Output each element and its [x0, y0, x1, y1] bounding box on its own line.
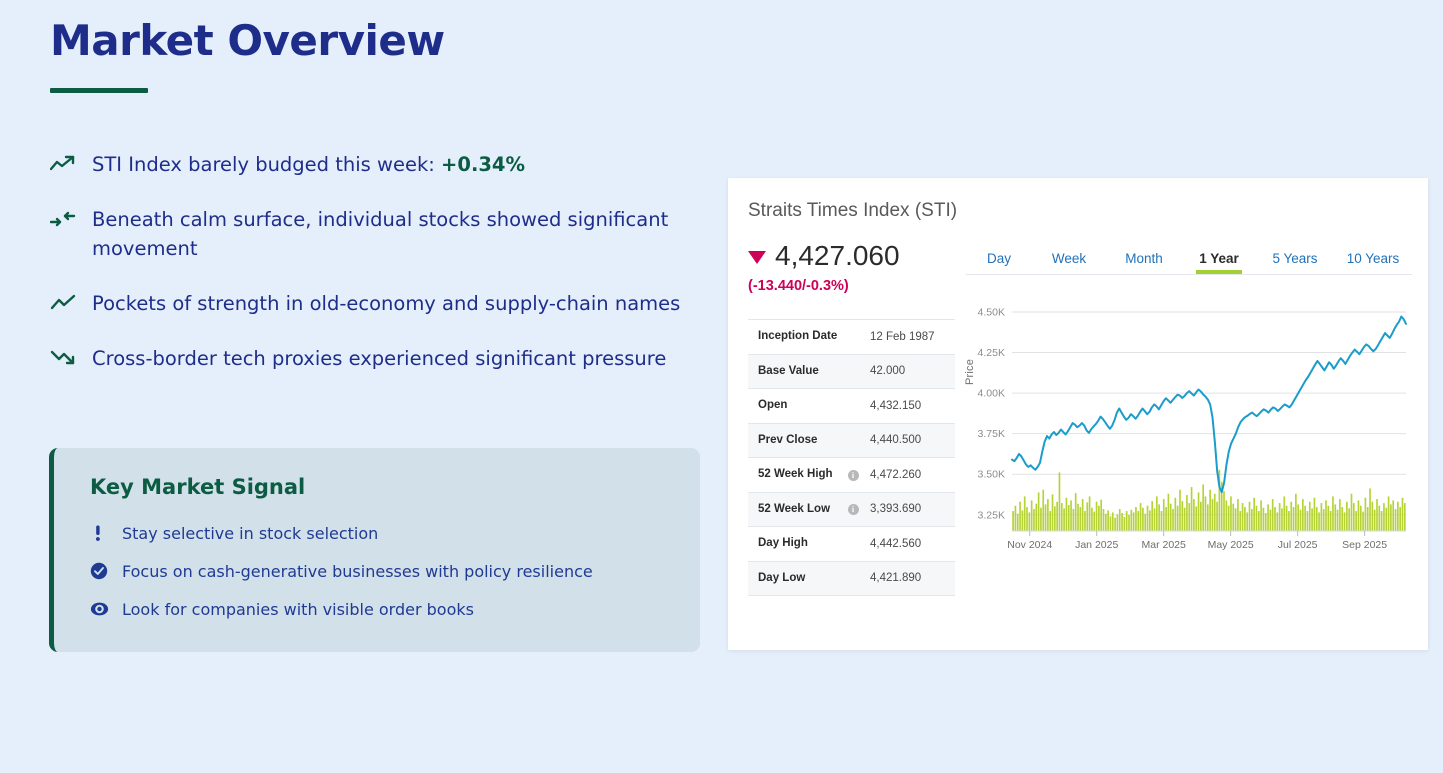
stat-label: 52 Week Low [748, 492, 842, 527]
trending-down-arrow-icon [50, 344, 92, 372]
stat-label: 52 Week High [748, 458, 842, 493]
list-item: Beneath calm surface, individual stocks … [50, 205, 720, 263]
stat-value: 42.000 [864, 354, 955, 389]
chart-panel: Day Week Month 1 Year 5 Years [966, 238, 1412, 618]
title-underline-rule [50, 88, 148, 93]
stat-value: 4,421.890 [864, 561, 955, 596]
list-item: STI Index barely budged this week: +0.34… [50, 150, 720, 179]
tab-week[interactable]: Week [1032, 251, 1106, 274]
list-item: Stay selective in stock selection [90, 514, 680, 552]
tab-month[interactable]: Month [1106, 251, 1182, 274]
stat-info-cell [842, 527, 864, 562]
table-row: Open 4,432.150 [748, 389, 955, 424]
signal-item-label: Focus on cash-generative businesses with… [122, 562, 593, 581]
highlight-value: +0.34% [441, 153, 525, 176]
highlight-text: Beneath calm surface, individual stocks … [92, 205, 692, 263]
tab-day[interactable]: Day [966, 251, 1032, 274]
highlight-text-plain: STI Index barely budged this week: [92, 153, 441, 176]
tab-label: Month [1125, 251, 1163, 266]
svg-text:Mar 2025: Mar 2025 [1142, 539, 1187, 551]
stat-label: Open [748, 389, 842, 424]
svg-text:4.00K: 4.00K [978, 388, 1005, 400]
left-column: Market Overview STI Index barely budged … [0, 0, 730, 773]
index-change: (-13.440/-0.3%) [748, 278, 963, 294]
svg-text:3.75K: 3.75K [978, 428, 1005, 440]
range-tabs: Day Week Month 1 Year 5 Years [966, 238, 1412, 274]
price-chart[interactable]: Price 3.25K3.50K3.75K4.00K4.25K4.50KNov … [966, 289, 1412, 559]
info-icon[interactable]: i [848, 470, 859, 481]
stat-label: Day Low [748, 561, 842, 596]
tab-label: Day [987, 251, 1011, 266]
svg-text:Jul 2025: Jul 2025 [1278, 539, 1318, 551]
stat-value: 4,442.560 [864, 527, 955, 562]
list-item: Focus on cash-generative businesses with… [90, 552, 680, 590]
stat-value: 4,440.500 [864, 423, 955, 458]
stat-label: Inception Date [748, 320, 842, 355]
table-row: 52 Week High i 4,472.260 [748, 458, 955, 493]
arrows-compress-icon [50, 205, 92, 233]
highlight-text: Pockets of strength in old-economy and s… [92, 289, 680, 318]
stat-info-cell: i [842, 492, 864, 527]
check-circle-icon [90, 562, 122, 580]
table-row: Day Low 4,421.890 [748, 561, 955, 596]
stat-value: 3,393.690 [864, 492, 955, 527]
trending-up-arrow-icon [50, 150, 92, 178]
table-row: Base Value 42.000 [748, 354, 955, 389]
stat-info-cell [842, 389, 864, 424]
tab-label: Week [1052, 251, 1086, 266]
tab-label: 5 Years [1272, 251, 1317, 266]
tab-10-years[interactable]: 10 Years [1334, 251, 1412, 274]
svg-text:3.25K: 3.25K [978, 509, 1005, 521]
index-price: 4,427.060 [775, 240, 900, 272]
list-item: Look for companies with visible order bo… [90, 590, 680, 628]
info-icon[interactable]: i [848, 504, 859, 515]
tabs-divider [966, 274, 1412, 275]
svg-text:May 2025: May 2025 [1208, 539, 1254, 551]
sti-index-card: Straits Times Index (STI) 4,427.060 (-13… [728, 178, 1428, 650]
signal-items-list: Stay selective in stock selection Focus … [90, 514, 680, 628]
stat-info-cell [842, 423, 864, 458]
chart-svg: 3.25K3.50K3.75K4.00K4.25K4.50KNov 2024Ja… [966, 289, 1412, 557]
stat-info-cell: i [842, 458, 864, 493]
stat-value: 12 Feb 1987 [864, 320, 955, 355]
highlights-list: STI Index barely budged this week: +0.34… [50, 150, 720, 395]
signal-box-title: Key Market Signal [90, 475, 305, 499]
table-row: Day High 4,442.560 [748, 527, 955, 562]
tab-label: 1 Year [1199, 251, 1239, 266]
tab-5-years[interactable]: 5 Years [1256, 251, 1334, 274]
stat-label: Base Value [748, 354, 842, 389]
svg-text:Sep 2025: Sep 2025 [1342, 539, 1387, 551]
stat-label: Prev Close [748, 423, 842, 458]
triangle-down-icon [748, 251, 766, 264]
svg-text:4.25K: 4.25K [978, 347, 1005, 359]
key-market-signal-box: Key Market Signal Stay selective in stoc… [49, 448, 700, 652]
stat-value: 4,472.260 [864, 458, 955, 493]
svg-text:Jan 2025: Jan 2025 [1075, 539, 1118, 551]
stat-info-cell [842, 354, 864, 389]
line-chart-up-icon [50, 289, 92, 317]
page-title: Market Overview [50, 16, 445, 65]
card-title: Straits Times Index (STI) [748, 200, 957, 222]
quote-row: 4,427.060 [748, 240, 963, 272]
svg-text:4.50K: 4.50K [978, 306, 1005, 318]
list-item: Cross-border tech proxies experienced si… [50, 344, 720, 373]
table-row: Prev Close 4,440.500 [748, 423, 955, 458]
quote-block: 4,427.060 (-13.440/-0.3%) [748, 240, 963, 294]
list-item: Pockets of strength in old-economy and s… [50, 289, 720, 318]
svg-text:Nov 2024: Nov 2024 [1007, 539, 1052, 551]
slide-root: Market Overview STI Index barely budged … [0, 0, 1443, 773]
tab-label: 10 Years [1347, 251, 1400, 266]
exclamation-icon [90, 524, 122, 542]
stats-table: Inception Date 12 Feb 1987 Base Value 42… [748, 319, 955, 596]
highlight-text: STI Index barely budged this week: +0.34… [92, 150, 525, 179]
signal-item-label: Look for companies with visible order bo… [122, 600, 474, 619]
eye-icon [90, 600, 122, 618]
table-row: 52 Week Low i 3,393.690 [748, 492, 955, 527]
stat-label: Day High [748, 527, 842, 562]
tab-active-underline [1196, 270, 1242, 274]
stat-value: 4,432.150 [864, 389, 955, 424]
stat-info-cell [842, 561, 864, 596]
tab-1-year[interactable]: 1 Year [1182, 251, 1256, 274]
signal-item-label: Stay selective in stock selection [122, 524, 378, 543]
stat-info-cell [842, 320, 864, 355]
highlight-text: Cross-border tech proxies experienced si… [92, 344, 666, 373]
table-row: Inception Date 12 Feb 1987 [748, 320, 955, 355]
svg-text:3.50K: 3.50K [978, 469, 1005, 481]
